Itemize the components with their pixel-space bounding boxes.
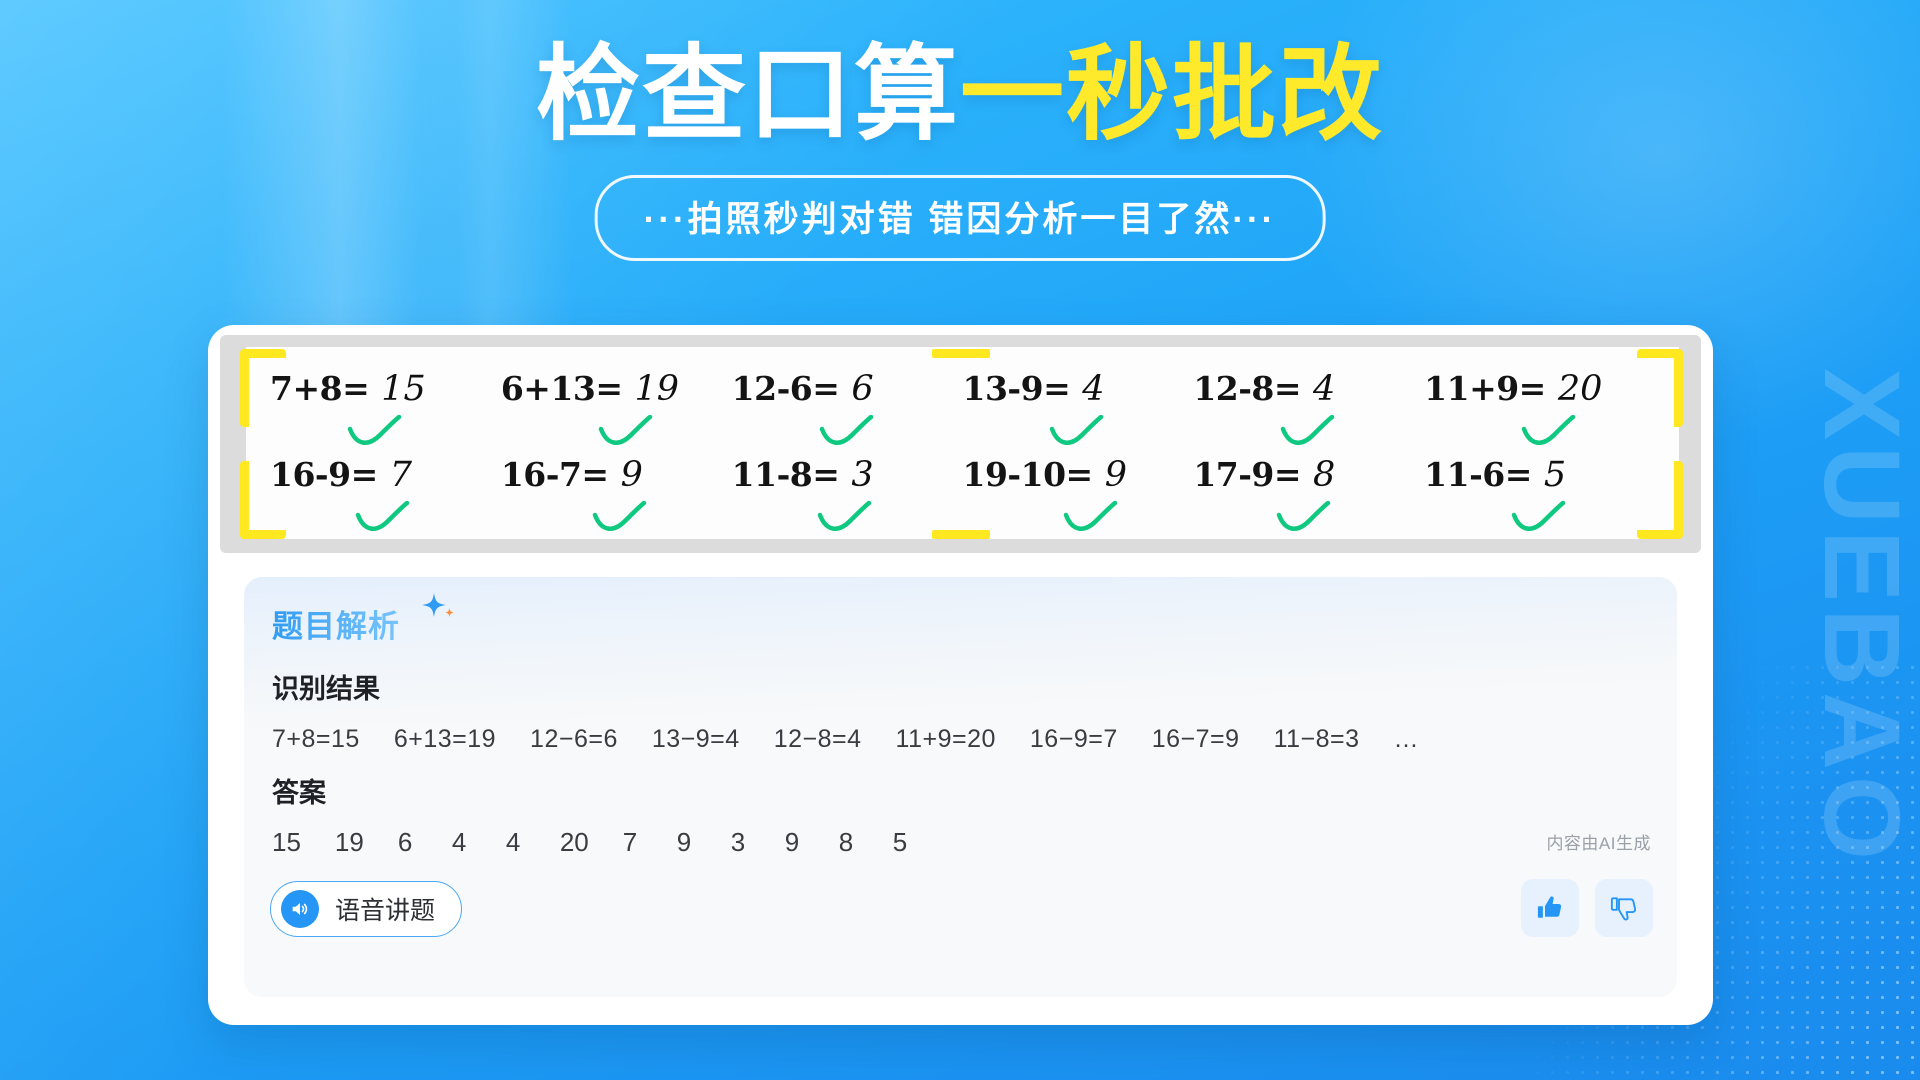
recognition-item: 11+9=20 [896, 725, 996, 754]
answer-item: 7 [623, 827, 643, 858]
handwritten-answer: 15 [381, 369, 426, 409]
recognition-item: 13−9=4 [652, 725, 740, 754]
problem-expression: 11-6= [1424, 455, 1532, 494]
scan-edge-tick-bottom-icon [932, 530, 990, 539]
page-title-yellow: 一秒批改 [960, 37, 1384, 153]
thumbs-up-button[interactable] [1521, 879, 1579, 937]
green-check-icon [816, 501, 872, 535]
handwritten-answer: 9 [621, 455, 643, 495]
handwritten-answer: 4 [1313, 369, 1335, 409]
answer-item: 8 [839, 827, 859, 858]
problem-expression: 11-8= [732, 455, 840, 494]
problem-expression: 7+8= [270, 369, 369, 408]
page-title: 检查口算一秒批改 [0, 34, 1920, 157]
handwritten-answer: 6 [851, 369, 873, 409]
worksheet-problem: 6+13= 19 [501, 369, 732, 433]
green-check-icon [1275, 501, 1331, 535]
problem-expression: 17-9= [1193, 455, 1301, 494]
recognition-item: 6+13=19 [394, 725, 496, 754]
recognition-item: 12−8=4 [774, 725, 862, 754]
recognition-item-ellipsis: … [1394, 725, 1420, 754]
recognition-result-label: 识别结果 [272, 667, 380, 706]
answer-item: 15 [272, 827, 301, 858]
answer-label: 答案 [272, 771, 326, 810]
scan-edge-tick-top-icon [932, 349, 990, 358]
problem-expression: 16-7= [501, 455, 609, 494]
answer-item: 4 [452, 827, 472, 858]
voice-explain-button[interactable]: 语音讲题 [270, 881, 462, 937]
green-check-icon [1510, 501, 1566, 535]
handwritten-answer: 3 [851, 455, 873, 495]
green-check-icon [591, 501, 647, 535]
handwritten-answer: 7 [390, 455, 412, 495]
worksheet-problem: 12-6= 6 [732, 369, 963, 433]
handwritten-answer: 8 [1313, 455, 1335, 495]
problem-expression: 13-9= [962, 369, 1070, 408]
handwritten-answer: 4 [1082, 369, 1104, 409]
worksheet-problem: 16-9= 7 [270, 455, 501, 519]
problem-expression: 19-10= [962, 455, 1092, 494]
analysis-panel: 题目解析 识别结果 7+8=15 6+13=19 12−6=6 13−9=4 1… [244, 577, 1677, 997]
problem-expression: 12-6= [732, 369, 840, 408]
recognition-item: 7+8=15 [272, 725, 360, 754]
worksheet-problem: 11-8= 3 [732, 455, 963, 519]
green-check-icon [597, 415, 653, 449]
worksheet-problem: 11-6= 5 [1424, 455, 1655, 519]
recognition-result-list: 7+8=15 6+13=19 12−6=6 13−9=4 12−8=4 11+9… [272, 725, 1419, 754]
green-check-icon [1520, 415, 1576, 449]
recognition-item: 16−9=7 [1030, 725, 1118, 754]
answer-item: 19 [335, 827, 364, 858]
green-check-icon [818, 415, 874, 449]
worksheet-problem: 16-7= 9 [501, 455, 732, 519]
green-check-icon [346, 415, 402, 449]
answer-item: 20 [560, 827, 589, 858]
brand-watermark: XUEBAO [1809, 368, 1914, 866]
worksheet-row-1: 7+8= 15 6+13= 19 12-6= 6 13-9= 4 12-8= [270, 369, 1655, 433]
worksheet-problem: 12-8= 4 [1193, 369, 1424, 433]
green-check-icon [1062, 501, 1118, 535]
answer-item: 4 [506, 827, 526, 858]
thumbs-down-icon [1609, 893, 1639, 923]
page-title-white: 检查口算 [536, 37, 960, 153]
voice-explain-label: 语音讲题 [335, 891, 435, 927]
worksheet-problem: 19-10= 9 [962, 455, 1193, 519]
handwritten-answer: 5 [1544, 455, 1566, 495]
recognition-item: 16−7=9 [1152, 725, 1240, 754]
thumbs-up-icon [1535, 893, 1565, 923]
worksheet-row-2: 16-9= 7 16-7= 9 11-8= 3 19-10= 9 17-9= [270, 455, 1655, 519]
green-check-icon [1279, 415, 1335, 449]
speaker-icon [281, 890, 319, 928]
problem-expression: 6+13= [501, 369, 623, 408]
sparkle-icon [416, 589, 460, 633]
worksheet-problem: 11+9= 20 [1424, 369, 1655, 433]
thumbs-down-button[interactable] [1595, 879, 1653, 937]
problem-expression: 16-9= [270, 455, 378, 494]
result-card: 7+8= 15 6+13= 19 12-6= 6 13-9= 4 12-8= [208, 325, 1713, 1025]
green-check-icon [354, 501, 410, 535]
subtitle-pill: ···拍照秒判对错 错因分析一目了然··· [595, 175, 1326, 261]
worksheet-problem: 13-9= 4 [962, 369, 1193, 433]
answer-list: 15 19 6 4 4 20 7 9 3 9 8 5 [272, 827, 913, 858]
scanned-worksheet: 7+8= 15 6+13= 19 12-6= 6 13-9= 4 12-8= [220, 335, 1701, 553]
recognition-item: 11−8=3 [1274, 725, 1360, 754]
handwritten-answer: 20 [1558, 369, 1603, 409]
green-check-icon [1048, 415, 1104, 449]
handwritten-answer: 9 [1105, 455, 1127, 495]
answer-item: 5 [893, 827, 913, 858]
handwritten-answer: 19 [635, 369, 680, 409]
worksheet-problem: 17-9= 8 [1193, 455, 1424, 519]
answer-item: 3 [731, 827, 751, 858]
problem-expression: 12-8= [1193, 369, 1301, 408]
analysis-title: 题目解析 [272, 601, 400, 646]
worksheet-problem: 7+8= 15 [270, 369, 501, 433]
answer-item: 9 [677, 827, 697, 858]
recognition-item: 12−6=6 [530, 725, 618, 754]
answer-item: 9 [785, 827, 805, 858]
problem-expression: 11+9= [1424, 369, 1546, 408]
feedback-controls [1521, 879, 1653, 937]
answer-item: 6 [398, 827, 418, 858]
ai-generated-note: 内容由AI生成 [1546, 829, 1651, 854]
